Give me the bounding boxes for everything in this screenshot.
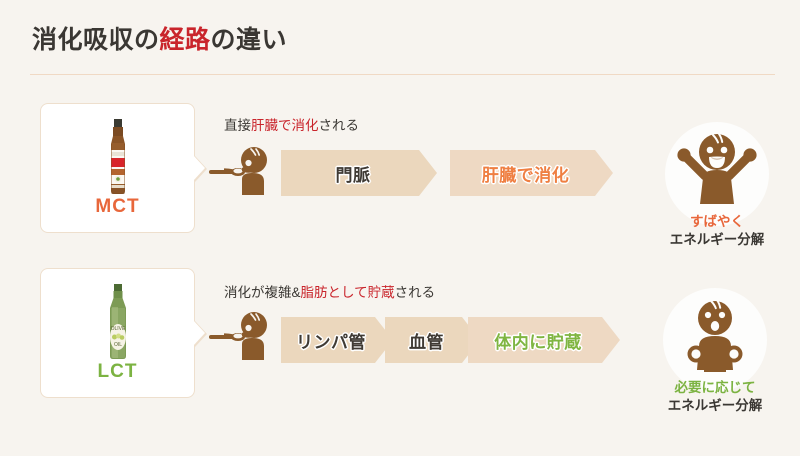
result-lct-caption-top: 必要に応じて <box>640 376 790 396</box>
surprised-person-hands-on-hips-icon <box>671 296 759 383</box>
caption-lct-after: される <box>395 285 436 300</box>
card-tail-lct <box>193 320 205 346</box>
caption-mct-highlight: 肝臓で消化 <box>251 118 319 133</box>
flow-arrow-lct-3: 体内に貯蔵 <box>468 317 620 363</box>
flow-arrow-mct-2: 肝臓で消化 <box>450 150 613 196</box>
olive-oil-bottle-icon: OLIVE OIL <box>41 281 194 363</box>
product-card-mct[interactable]: MCT <box>40 103 195 233</box>
flow-arrow-lct-1-label: リンパ管 <box>296 328 366 353</box>
caption-mct: 直接肝臓で消化される <box>224 114 359 134</box>
flow-arrow-mct-1-label: 門脈 <box>336 161 371 186</box>
svg-text:OLIVE: OLIVE <box>110 326 125 332</box>
infographic-page: 消化吸収の経路の違い MCT 直接肝臓で消 <box>0 0 800 456</box>
person-eating-icon-lct <box>224 306 280 362</box>
flow-arrow-lct-3-label: 体内に貯蔵 <box>494 328 582 353</box>
caption-lct: 消化が複雑&脂肪として貯蔵される <box>224 281 435 301</box>
caption-lct-before: 消化が複雑& <box>224 285 301 300</box>
page-title-highlight: 経路 <box>160 26 211 54</box>
result-lct-caption-bottom: エネルギー分解 <box>640 394 790 414</box>
result-mct-caption-bottom: エネルギー分解 <box>642 228 792 248</box>
svg-text:OIL: OIL <box>113 342 121 348</box>
result-mct-caption-top: すばやく <box>642 210 792 230</box>
flow-arrow-lct-2-label: 血管 <box>409 328 444 353</box>
product-label-mct: MCT <box>41 196 194 218</box>
card-tail-mct <box>193 155 205 181</box>
caption-mct-before: 直接 <box>224 118 251 133</box>
flow-arrow-lct-1: リンパ管 <box>281 317 393 363</box>
person-eating-icon-mct <box>224 141 280 197</box>
caption-mct-after: される <box>319 118 360 133</box>
flow-arrow-mct-2-label: 肝臓で消化 <box>482 161 570 186</box>
happy-person-arms-up-icon <box>673 130 761 217</box>
flow-arrow-mct-1: 門脈 <box>281 150 437 196</box>
caption-lct-highlight: 脂肪として貯蔵 <box>301 285 395 300</box>
title-divider <box>30 74 775 75</box>
mct-oil-bottle-icon <box>41 116 194 198</box>
page-title: 消化吸収の経路の違い <box>32 20 287 56</box>
flow-arrow-lct-2: 血管 <box>385 317 480 363</box>
page-title-part1: 消化吸収の <box>32 26 160 54</box>
product-card-lct[interactable]: OLIVE OIL LCT <box>40 268 195 398</box>
product-label-lct: LCT <box>41 361 194 383</box>
page-title-part2: の違い <box>211 26 288 54</box>
